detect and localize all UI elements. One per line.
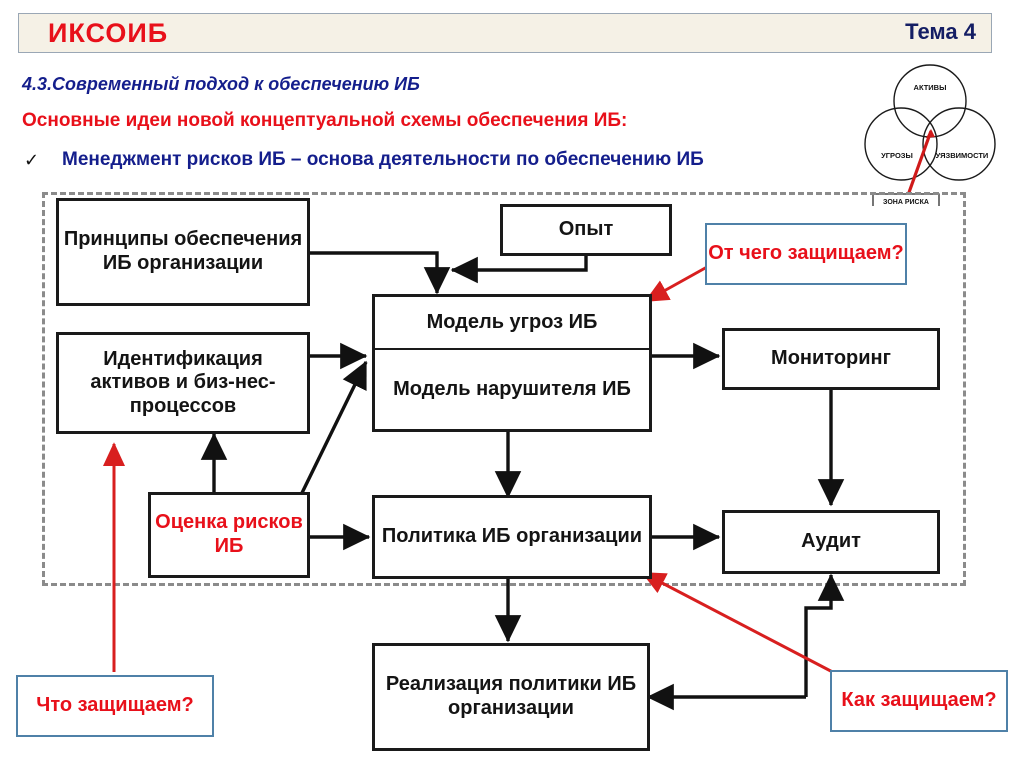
- section-heading: 4.3.Современный подход к обеспечению ИБ: [22, 74, 420, 95]
- venn-label-vulnerabilities: УЯЗВИМОСТИ: [936, 151, 989, 160]
- box-identification[interactable]: Идентификация активов и биз-нес-процессо…: [56, 332, 310, 434]
- box-audit[interactable]: Аудит: [722, 510, 940, 574]
- venn-diagram: АКТИВЫ УГРОЗЫ УЯЗВИМОСТИ ЗОНА РИСКА: [855, 56, 1005, 206]
- box-principles[interactable]: Принципы обеспечения ИБ организации: [56, 198, 310, 306]
- box-implementation[interactable]: Реализация политики ИБ организации: [372, 643, 650, 751]
- box-experience[interactable]: Опыт: [500, 204, 672, 256]
- box-monitoring[interactable]: Мониторинг: [722, 328, 940, 390]
- box-intruder-model[interactable]: Модель нарушителя ИБ: [372, 350, 652, 432]
- slide-canvas: ИКСОИБ Тема 4 4.3.Современный подход к о…: [0, 0, 1024, 767]
- topic-label: Тема 4: [905, 19, 976, 45]
- bullet-item: Менеджмент рисков ИБ – основа деятельнос…: [62, 149, 704, 171]
- page-title: ИКСОИБ: [48, 18, 168, 49]
- callout-what[interactable]: Что защищаем?: [16, 675, 214, 737]
- venn-label-threats: УГРОЗЫ: [881, 151, 913, 160]
- pointer-how: [643, 573, 846, 679]
- box-risk-assessment[interactable]: Оценка рисков ИБ: [148, 492, 310, 578]
- venn-label-assets: АКТИВЫ: [914, 83, 947, 92]
- headline-text: Основные идеи новой концептуальной схемы…: [22, 110, 627, 132]
- box-policy[interactable]: Политика ИБ организации: [372, 495, 652, 579]
- box-threat-model[interactable]: Модель угроз ИБ: [372, 294, 652, 350]
- callout-how[interactable]: Как защищаем?: [830, 670, 1008, 732]
- checkmark-icon: ✓: [24, 150, 39, 171]
- callout-from-what[interactable]: От чего защищаем?: [705, 223, 907, 285]
